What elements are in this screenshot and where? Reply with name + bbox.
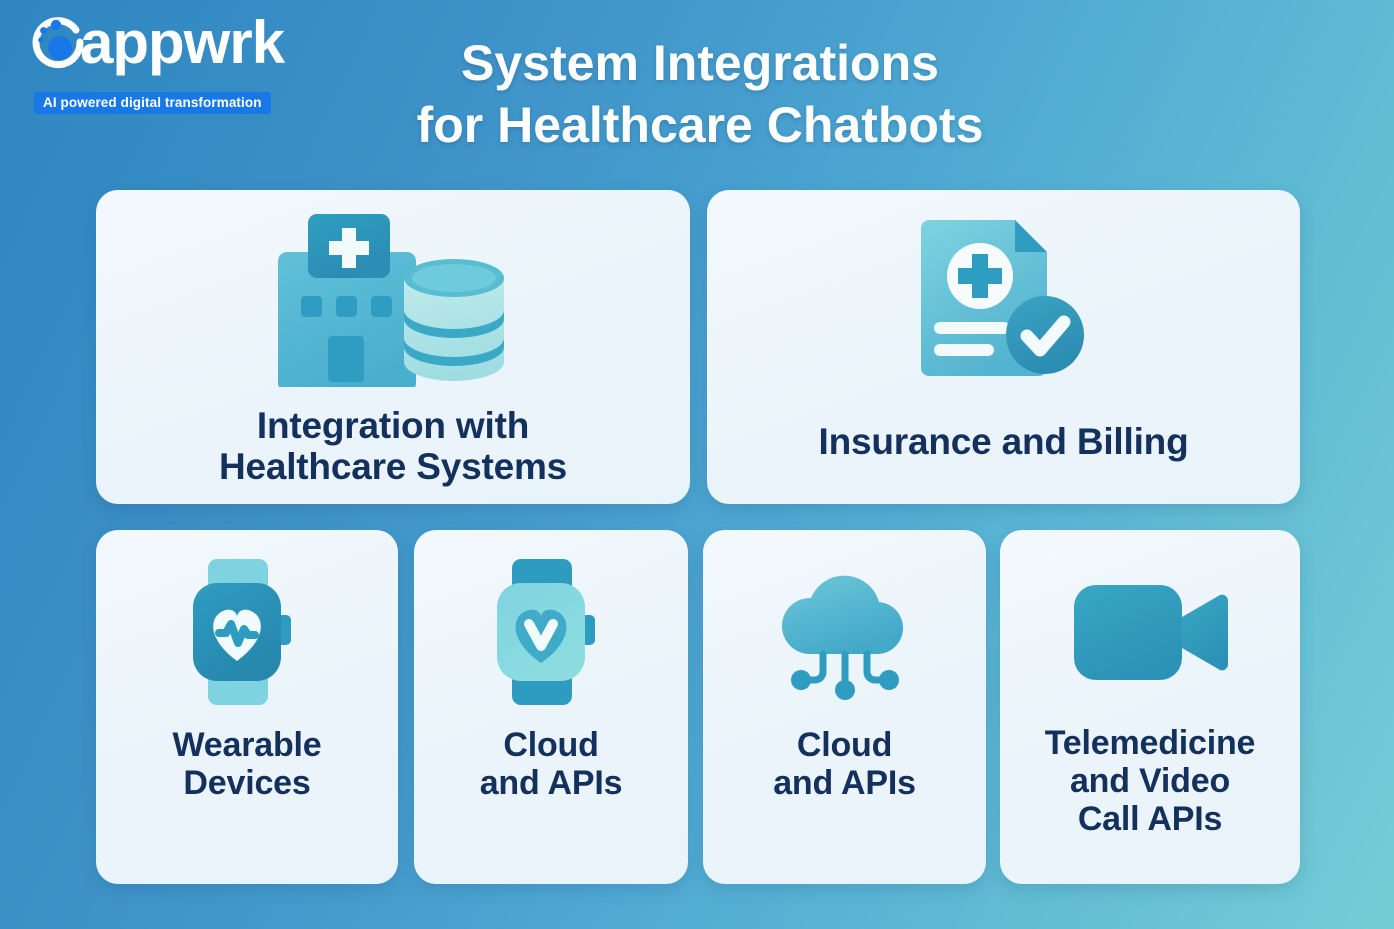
card-label-line-2: Devices	[183, 764, 310, 802]
card-label-integration-healthcare-systems: Integration with Healthcare Systems	[219, 405, 567, 488]
card-cloud-and-apis-watch[interactable]: Cloud and APIs	[414, 530, 688, 884]
card-label-telemedicine-video-call-apis: Telemedicine and Video Call APIs	[1045, 724, 1256, 838]
video-camera-icon	[1072, 562, 1228, 702]
cloud-nodes-icon	[765, 562, 925, 702]
card-label-insurance-and-billing: Insurance and Billing	[819, 421, 1189, 462]
card-label-line-1: Cloud	[797, 726, 892, 764]
logo-row: appwrk	[14, 8, 322, 78]
infographic-poster: appwrk AI powered digital transformation…	[0, 0, 1394, 929]
card-label-line-1: Wearable	[173, 726, 322, 764]
card-label-line-3: Call APIs	[1078, 800, 1222, 838]
hospital-database-icon	[276, 212, 510, 387]
smartwatch-heartbeat-icon	[181, 562, 313, 702]
card-telemedicine-video-call-apis[interactable]: Telemedicine and Video Call APIs	[1000, 530, 1300, 884]
card-label-line-1: Insurance and Billing	[819, 421, 1189, 462]
card-label-line-2: and APIs	[773, 764, 916, 802]
card-label-line-1: Integration with	[257, 405, 529, 446]
medical-document-check-icon	[909, 210, 1099, 385]
page-title-line-1: System Integrations	[330, 32, 1070, 94]
card-label-line-2: and Video	[1070, 762, 1230, 800]
page-title-line-2: for Healthcare Chatbots	[330, 94, 1070, 156]
card-label-cloud-and-apis-cloud: Cloud and APIs	[773, 726, 916, 802]
page-title: System Integrations for Healthcare Chatb…	[330, 32, 1070, 156]
card-label-line-2: Healthcare Systems	[219, 446, 567, 487]
card-label-line-2: and APIs	[480, 764, 623, 802]
card-wearable-devices[interactable]: Wearable Devices	[96, 530, 398, 884]
card-cloud-and-apis-cloud[interactable]: Cloud and APIs	[703, 530, 986, 884]
card-insurance-and-billing[interactable]: Insurance and Billing	[707, 190, 1300, 504]
brand-logo[interactable]: appwrk AI powered digital transformation	[14, 8, 322, 111]
brand-tagline: AI powered digital transformation	[34, 92, 271, 114]
card-label-line-1: Telemedicine	[1045, 724, 1256, 762]
brand-name: appwrk	[80, 6, 284, 80]
card-label-wearable-devices: Wearable Devices	[173, 726, 322, 802]
card-label-line-1: Cloud	[503, 726, 598, 764]
card-label-cloud-and-apis-watch: Cloud and APIs	[480, 726, 623, 802]
smartwatch-heart-check-icon	[485, 562, 617, 702]
card-integration-healthcare-systems[interactable]: Integration with Healthcare Systems	[96, 190, 690, 504]
